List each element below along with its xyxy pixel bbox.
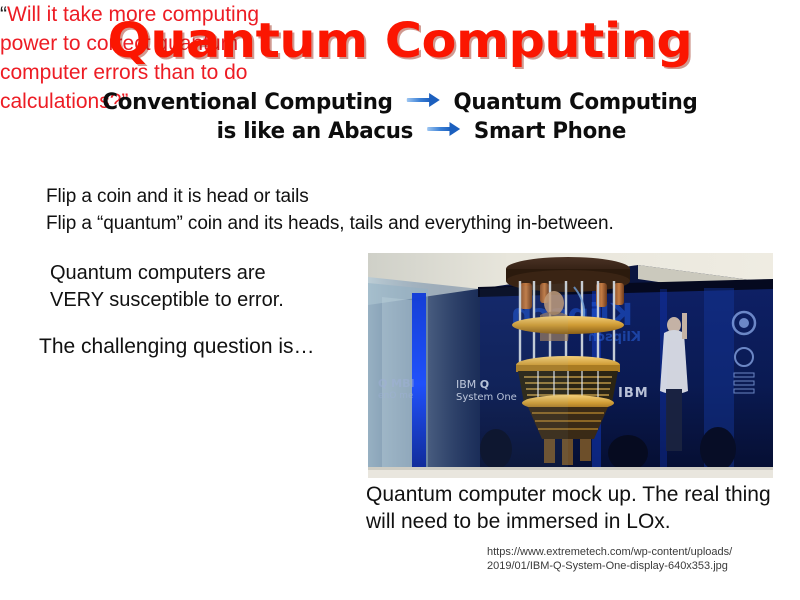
image-source-url: https://www.extremetech.com/wp-content/u… — [487, 545, 797, 573]
subtitle-line2-right: Smart Phone — [474, 119, 626, 144]
subtitle-line2-left: is like an Abacus — [217, 119, 413, 144]
svg-text:IBM: IBM — [618, 386, 649, 401]
coin-paragraph: Flip a coin and it is head or tails Flip… — [46, 183, 614, 237]
subtitle-row-2: is like an Abacus Smart Phone — [12, 117, 788, 146]
page-title: Quantum Computing — [0, 13, 800, 69]
subtitle-line1-left: Conventional Computing — [102, 90, 392, 115]
svg-text:enO me: enO me — [378, 391, 414, 401]
svg-text:Q MBI: Q MBI — [378, 377, 415, 390]
slide-canvas: Quantum Computing Conventional Computing… — [0, 0, 800, 600]
arrow-right-icon — [427, 121, 460, 137]
subtitle-block: Conventional Computing Quantum Computing… — [12, 88, 788, 146]
challenging-question-line: The challenging question is… — [39, 333, 315, 360]
photo-caption: Quantum computer mock up. The real thing… — [366, 481, 786, 535]
susceptible-paragraph: Quantum computers are VERY susceptible t… — [50, 260, 284, 314]
quantum-computer-photo: Klipsch Klipsch IBM Q System One IBM Q M… — [368, 253, 773, 478]
photo-artwork: Klipsch Klipsch IBM Q System One IBM Q M… — [368, 253, 773, 478]
arrow-right-icon — [407, 92, 440, 108]
subtitle-line1-right: Quantum Computing — [453, 90, 697, 115]
subtitle-row-1: Conventional Computing Quantum Computing — [12, 88, 788, 117]
